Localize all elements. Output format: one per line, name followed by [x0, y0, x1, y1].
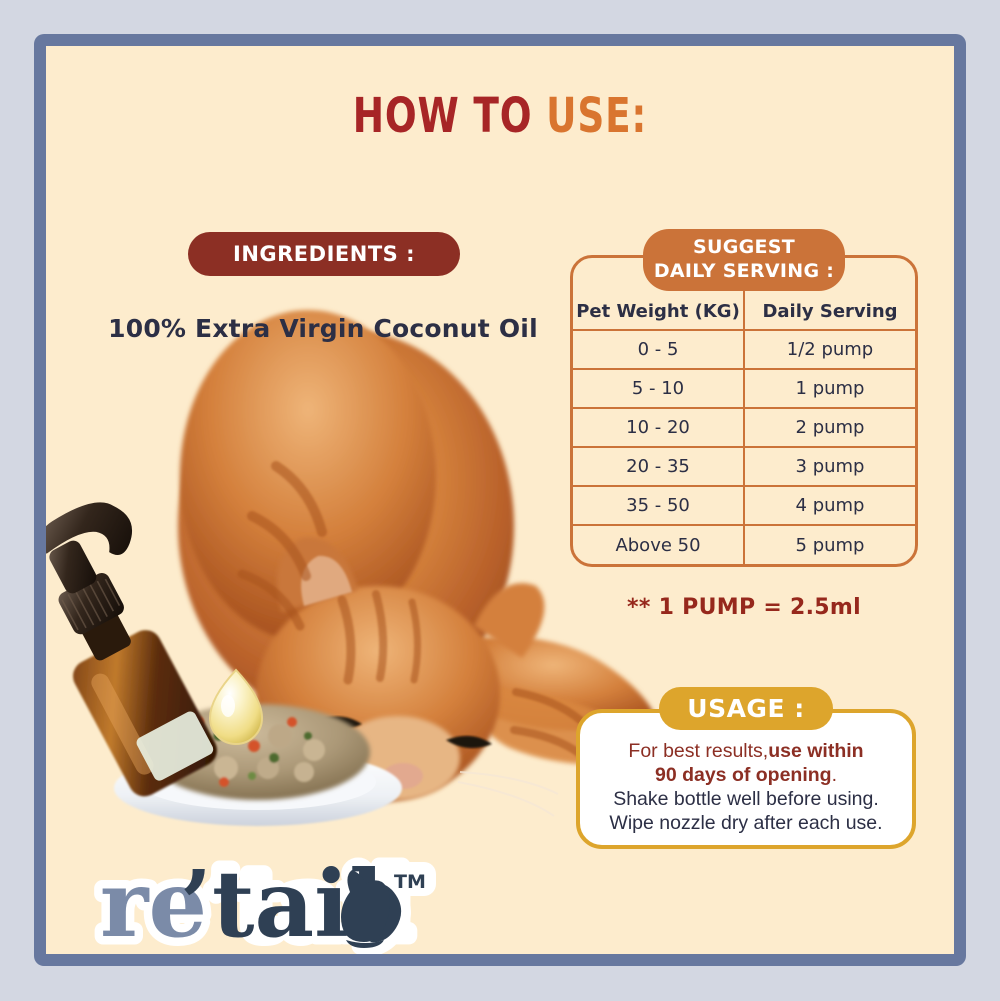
ingredients-badge: INGREDIENTS : — [188, 232, 460, 276]
ingredients-badge-label: INGREDIENTS : — [233, 242, 415, 266]
cell-weight: 0 - 5 — [573, 330, 744, 369]
cell-serving: 1 pump — [744, 369, 915, 408]
pump-bottle — [46, 488, 248, 802]
serving-table-badge: SUGGEST DAILY SERVING : — [643, 229, 845, 291]
table-row: 5 - 10 1 pump — [573, 369, 915, 408]
cell-weight: 20 - 35 — [573, 447, 744, 486]
cell-serving: 4 pump — [744, 486, 915, 525]
plate-of-food — [114, 704, 402, 826]
serving-table-box: Pet Weight (KG) Daily Serving 0 - 5 1/2 … — [570, 255, 918, 567]
serving-badge-line-2: DAILY SERVING : — [643, 259, 845, 283]
serving-badge-line-1: SUGGEST — [643, 235, 845, 259]
cell-serving: 3 pump — [744, 447, 915, 486]
brand-logo: re’tail re ’tail TM — [94, 844, 454, 964]
poster-frame: HOW TO USE: INGREDIENTS : 100% Extra Vir… — [34, 34, 966, 966]
cell-weight: Above 50 — [573, 525, 744, 564]
table-row: 20 - 35 3 pump — [573, 447, 915, 486]
cell-weight: 35 - 50 — [573, 486, 744, 525]
logo-artwork: re’tail re ’tail TM — [94, 844, 454, 964]
usage-box: For best results,use within 90 days of o… — [576, 709, 916, 849]
usage-line-4: Wipe nozzle dry after each use. — [609, 812, 882, 834]
title-part-2: USE: — [546, 88, 647, 144]
usage-line-2-period: . — [832, 764, 837, 786]
oil-droplet — [210, 670, 262, 744]
cell-weight: 5 - 10 — [573, 369, 744, 408]
table-row: 0 - 5 1/2 pump — [573, 330, 915, 369]
pump-footnote: ** 1 PUMP = 2.5ml — [570, 595, 918, 620]
serving-table: Pet Weight (KG) Daily Serving 0 - 5 1/2 … — [573, 258, 915, 564]
cell-serving: 5 pump — [744, 525, 915, 564]
logo-trademark: TM — [394, 871, 426, 893]
table-row: Above 50 5 pump — [573, 525, 915, 564]
table-row: 35 - 50 4 pump — [573, 486, 915, 525]
poster-canvas: HOW TO USE: INGREDIENTS : 100% Extra Vir… — [46, 46, 954, 954]
title-part-1: HOW TO — [353, 88, 546, 144]
usage-line-1-normal: For best results, — [628, 740, 768, 762]
usage-line-1-bold: use within — [768, 740, 863, 762]
usage-line-2-bold: 90 days of opening — [655, 764, 832, 786]
cell-serving: 2 pump — [744, 408, 915, 447]
ingredients-value: 100% Extra Virgin Coconut Oil — [88, 314, 558, 343]
table-row: 10 - 20 2 pump — [573, 408, 915, 447]
page-title: HOW TO USE: — [146, 88, 854, 144]
usage-badge-label: USAGE : — [687, 694, 804, 723]
cell-weight: 10 - 20 — [573, 408, 744, 447]
cell-serving: 1/2 pump — [744, 330, 915, 369]
usage-line-3: Shake bottle well before using. — [613, 788, 879, 810]
usage-badge: USAGE : — [659, 687, 833, 730]
